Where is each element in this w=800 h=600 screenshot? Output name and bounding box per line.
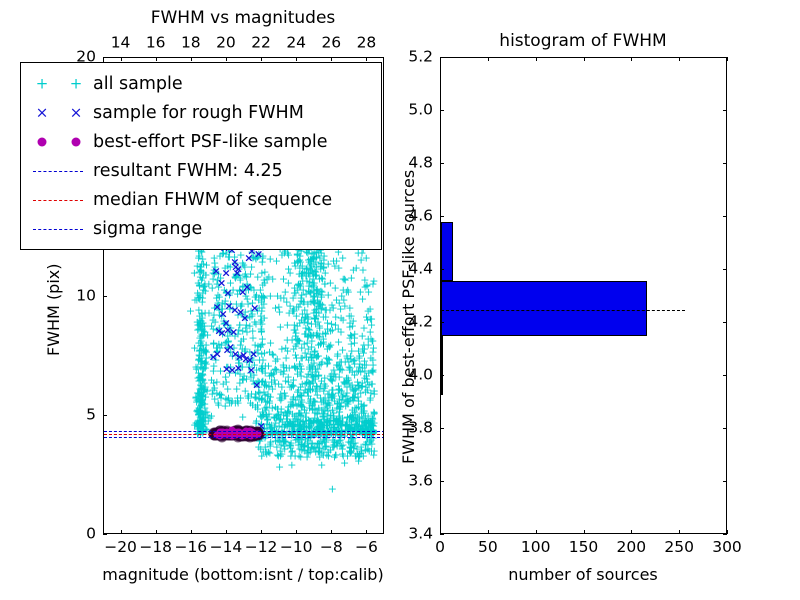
scatter-point-all: + (347, 446, 356, 457)
scatter-point-all: + (236, 250, 245, 261)
scatter-point-all: + (293, 416, 302, 427)
scatter-point-all: + (353, 392, 362, 403)
scatter-point-all: + (197, 259, 206, 270)
scatter-point-all: + (341, 420, 350, 431)
cross-marker-icon: × (36, 105, 49, 120)
scatter-point-all: + (358, 415, 367, 426)
scatter-point-all: + (324, 259, 333, 270)
scatter-point-all: + (305, 384, 314, 395)
scatter-point-all: + (195, 280, 204, 291)
scatter-point-all: + (351, 409, 360, 420)
scatter-point-all: + (329, 442, 338, 453)
scatter-point-all: + (258, 376, 267, 387)
scatter-point-all: + (350, 333, 359, 344)
scatter-point-all: + (260, 266, 269, 277)
scatter-point-all: + (326, 326, 335, 337)
scatter-point-all: + (324, 340, 333, 351)
scatter-point-all: + (233, 398, 242, 409)
scatter-point-all: + (296, 419, 305, 430)
scatter-point-all: + (238, 343, 247, 354)
scatter-point-all: + (350, 438, 359, 449)
histogram-ytick (440, 428, 444, 429)
scatter-top-xticklabel: 14 (111, 36, 131, 52)
scatter-point-all: + (299, 387, 308, 398)
scatter-point-all: + (199, 412, 208, 423)
scatter-point-all: + (311, 442, 320, 453)
scatter-point-all: + (294, 451, 303, 462)
scatter-point-all: + (295, 416, 304, 427)
scatter-point-all: + (286, 401, 295, 412)
scatter-point-all: + (211, 267, 220, 278)
scatter-point-rough: × (230, 304, 239, 315)
scatter-point-all: + (308, 443, 317, 454)
scatter-point-all: + (307, 319, 316, 330)
scatter-point-all: + (334, 360, 343, 371)
scatter-point-all: + (241, 306, 250, 317)
scatter-point-all: + (310, 291, 319, 302)
scatter-point-all: + (355, 415, 364, 426)
scatter-point-all: + (304, 268, 313, 279)
scatter-point-all: + (193, 415, 202, 426)
scatter-point-all: + (306, 385, 315, 396)
scatter-point-all: + (326, 371, 335, 382)
scatter-point-all: + (362, 280, 371, 291)
scatter-point-all: + (196, 380, 205, 391)
scatter-point-all: + (310, 403, 319, 414)
scatter-point-all: + (290, 287, 299, 298)
scatter-point-all: + (285, 417, 294, 428)
scatter-point-all: + (296, 408, 305, 419)
scatter-point-all: + (290, 325, 299, 336)
scatter-point-all: + (274, 301, 283, 312)
legend-item-label: median FHWM of sequence (93, 190, 332, 210)
scatter-point-all: + (295, 437, 304, 448)
scatter-point-all: + (210, 257, 219, 268)
scatter-point-all: + (312, 382, 321, 393)
scatter-point-all: + (249, 376, 258, 387)
scatter-point-all: + (369, 406, 378, 417)
scatter-point-all: + (196, 412, 205, 423)
scatter-point-all: + (316, 339, 325, 350)
scatter-point-all: + (197, 358, 206, 369)
scatter-point-all: + (196, 338, 205, 349)
scatter-point-all: + (354, 379, 363, 390)
scatter-point-all: + (336, 418, 345, 429)
scatter-point-all: + (198, 369, 207, 380)
scatter-point-all: + (363, 443, 372, 454)
scatter-point-all: + (347, 331, 356, 342)
scatter-point-all: + (325, 420, 334, 431)
scatter-point-all: + (195, 409, 204, 420)
scatter-point-all: + (293, 414, 302, 425)
scatter-point-all: + (200, 358, 209, 369)
scatter-point-all: + (311, 257, 320, 268)
scatter-point-all: + (289, 415, 298, 426)
scatter-point-all: + (201, 411, 210, 422)
scatter-point-all: + (335, 393, 344, 404)
scatter-point-all: + (266, 290, 275, 301)
scatter-point-psf-halo (222, 426, 233, 437)
scatter-point-all: + (327, 385, 336, 396)
scatter-point-all: + (306, 258, 315, 269)
scatter-point-all: + (295, 419, 304, 430)
scatter-point-all: + (247, 388, 256, 399)
scatter-point-all: + (209, 324, 218, 335)
scatter-point-all: + (368, 279, 377, 290)
scatter-point-all: + (356, 442, 365, 453)
scatter-point-all: + (237, 335, 246, 346)
scatter-point-all: + (365, 436, 374, 447)
scatter-point-all: + (340, 301, 349, 312)
scatter-point-all: + (359, 412, 368, 423)
scatter-point-all: + (335, 441, 344, 452)
scatter-point-all: + (328, 388, 337, 399)
scatter-point-all: + (296, 382, 305, 393)
scatter-point-all: + (212, 347, 221, 358)
scatter-point-all: + (256, 434, 265, 445)
histogram-yticklabel: 4.0 (408, 367, 433, 383)
scatter-point-all: + (355, 448, 364, 459)
scatter-point-all: + (337, 398, 346, 409)
scatter-point-rough: × (224, 301, 233, 312)
scatter-point-all: + (288, 445, 297, 456)
scatter-point-all: + (238, 282, 247, 293)
scatter-point-all: + (338, 440, 347, 451)
scatter-point-all: + (290, 426, 299, 437)
scatter-point-all: + (291, 363, 300, 374)
scatter-point-all: + (360, 399, 369, 410)
scatter-point-all: + (294, 407, 303, 418)
scatter-point-all: + (311, 408, 320, 419)
scatter-point-all: + (318, 422, 327, 433)
scatter-point-all: + (313, 409, 322, 420)
scatter-point-all: + (252, 364, 261, 375)
histogram-bar[interactable] (441, 336, 443, 394)
scatter-point-all: + (320, 404, 329, 415)
scatter-point-all: + (233, 365, 242, 376)
scatter-point-all: + (277, 249, 286, 260)
scatter-point-all: + (288, 293, 297, 304)
scatter-point-rough: × (223, 287, 232, 298)
scatter-point-all: + (197, 416, 206, 427)
scatter-point-all: + (338, 416, 347, 427)
scatter-point-all: + (264, 408, 273, 419)
scatter-point-all: + (323, 323, 332, 334)
scatter-point-all: + (239, 259, 248, 270)
scatter-point-all: + (307, 351, 316, 362)
scatter-point-all: + (317, 287, 326, 298)
scatter-point-all: + (347, 339, 356, 350)
scatter-point-all: + (223, 383, 232, 394)
scatter-point-all: + (211, 355, 220, 366)
scatter-point-all: + (203, 386, 212, 397)
scatter-point-all: + (309, 416, 318, 427)
scatter-point-all: + (308, 405, 317, 416)
scatter-point-all: + (311, 385, 320, 396)
scatter-point-all: + (369, 343, 378, 354)
scatter-point-all: + (222, 286, 231, 297)
scatter-point-all: + (315, 323, 324, 334)
scatter-point-all: + (303, 445, 312, 456)
scatter-point-all: + (334, 387, 343, 398)
scatter-point-all: + (310, 278, 319, 289)
scatter-point-all: + (295, 281, 304, 292)
scatter-point-all: + (316, 416, 325, 427)
scatter-point-all: + (212, 325, 221, 336)
scatter-point-all: + (277, 439, 286, 450)
scatter-point-all: + (231, 272, 240, 283)
scatter-point-all: + (342, 375, 351, 386)
scatter-point-all: + (288, 399, 297, 410)
scatter-point-all: + (349, 356, 358, 367)
scatter-point-all: + (306, 348, 315, 359)
scatter-point-all: + (257, 319, 266, 330)
scatter-point-all: + (296, 400, 305, 411)
histogram-ytick (440, 163, 444, 164)
scatter-point-all: + (323, 417, 332, 428)
histogram-top-xtick (584, 57, 585, 61)
scatter-point-all: + (194, 389, 203, 400)
scatter-point-all: + (276, 413, 285, 424)
scatter-point-all: + (347, 433, 356, 444)
scatter-point-all: + (310, 312, 319, 323)
scatter-point-all: + (297, 270, 306, 281)
scatter-point-all: + (313, 316, 322, 327)
scatter-point-all: + (192, 294, 201, 305)
scatter-point-all: + (326, 412, 335, 423)
scatter-point-all: + (296, 257, 305, 268)
scatter-point-all: + (332, 294, 341, 305)
scatter-point-all: + (193, 316, 202, 327)
scatter-point-rough: × (228, 365, 237, 376)
scatter-point-all: + (339, 284, 348, 295)
scatter-point-all: + (338, 412, 347, 423)
histogram-bar[interactable] (441, 222, 453, 280)
scatter-point-all: + (328, 484, 337, 495)
legend-item[interactable]: best-effort PSF-like sample (29, 127, 373, 156)
scatter-point-all: + (304, 269, 313, 280)
scatter-point-all: + (276, 322, 285, 333)
scatter-point-all: + (247, 261, 256, 272)
scatter-point-all: + (294, 384, 303, 395)
scatter-point-all: + (280, 419, 289, 430)
scatter-point-all: + (223, 343, 232, 354)
legend[interactable]: ++all sample××sample for rough FWHMbest-… (20, 62, 382, 250)
scatter-point-all: + (242, 327, 251, 338)
scatter-point-all: + (329, 408, 338, 419)
scatter-point-all: + (196, 400, 205, 411)
scatter-point-psf-halo (236, 426, 247, 437)
scatter-point-all: + (219, 379, 228, 390)
legend-item[interactable]: sigma range (29, 214, 373, 243)
scatter-point-all: + (359, 401, 368, 412)
scatter-point-all: + (289, 304, 298, 315)
scatter-point-all: + (335, 412, 344, 423)
scatter-point-all: + (312, 285, 321, 296)
scatter-point-all: + (213, 298, 222, 309)
scatter-point-all: + (307, 438, 316, 449)
scatter-point-all: + (201, 418, 210, 429)
scatter-point-all: + (354, 413, 363, 424)
scatter-point-all: + (317, 416, 326, 427)
scatter-point-all: + (250, 348, 259, 359)
histogram-yticklabel: 3.8 (408, 420, 433, 436)
scatter-point-all: + (196, 423, 205, 434)
scatter-point-all: + (358, 363, 367, 374)
scatter-point-all: + (307, 369, 316, 380)
scatter-point-all: + (370, 417, 379, 428)
scatter-point-all: + (309, 372, 318, 383)
scatter-point-all: + (333, 417, 342, 428)
histogram-ytick (440, 375, 444, 376)
scatter-point-all: + (210, 252, 219, 263)
scatter-point-all: + (359, 426, 368, 437)
scatter-point-all: + (215, 323, 224, 334)
scatter-point-all: + (361, 444, 370, 455)
scatter-point-all: + (253, 400, 262, 411)
scatter-point-all: + (359, 408, 368, 419)
scatter-point-all: + (359, 450, 368, 461)
scatter-point-all: + (273, 450, 282, 461)
scatter-point-all: + (287, 381, 296, 392)
scatter-point-all: + (248, 400, 257, 411)
scatter-point-all: + (343, 398, 352, 409)
scatter-point-all: + (351, 415, 360, 426)
legend-item[interactable]: resultant FWHM: 4.25 (29, 156, 373, 185)
scatter-point-all: + (307, 255, 316, 266)
scatter-point-all: + (303, 317, 312, 328)
scatter-point-all: + (366, 353, 375, 364)
scatter-point-all: + (369, 275, 378, 286)
scatter-point-all: + (266, 337, 275, 348)
dashed-line-icon (33, 200, 83, 201)
scatter-point-all: + (214, 339, 223, 350)
scatter-point-all: + (367, 446, 376, 457)
scatter-point-all: + (367, 379, 376, 390)
scatter-point-all: + (346, 422, 355, 433)
scatter-point-all: + (198, 296, 207, 307)
scatter-point-all: + (310, 265, 319, 276)
scatter-point-all: + (354, 451, 363, 462)
legend-handle (29, 132, 93, 152)
histogram-axes[interactable] (440, 57, 727, 534)
scatter-point-all: + (197, 345, 206, 356)
scatter-point-all: + (307, 282, 316, 293)
legend-item[interactable]: ++all sample (29, 69, 373, 98)
histogram-bar[interactable] (441, 281, 647, 337)
scatter-point-all: + (272, 413, 281, 424)
scatter-point-all: + (297, 395, 306, 406)
scatter-point-all: + (266, 368, 275, 379)
histogram-right-ytick (723, 375, 727, 376)
scatter-point-all: + (298, 379, 307, 390)
scatter-point-all: + (317, 438, 326, 449)
scatter-point-all: + (264, 390, 273, 401)
scatter-point-all: + (295, 268, 304, 279)
scatter-point-all: + (370, 408, 379, 419)
scatter-top-xtick (296, 57, 297, 61)
scatter-point-all: + (311, 397, 320, 408)
scatter-point-rough: × (231, 261, 240, 272)
scatter-point-all: + (215, 300, 224, 311)
scatter-point-all: + (312, 288, 321, 299)
scatter-point-all: + (214, 305, 223, 316)
scatter-point-all: + (354, 456, 363, 467)
scatter-point-all: + (224, 342, 233, 353)
scatter-point-all: + (196, 396, 205, 407)
scatter-point-all: + (195, 315, 204, 326)
scatter-point-all: + (321, 436, 330, 447)
scatter-point-all: + (198, 411, 207, 422)
scatter-point-all: + (318, 299, 327, 310)
scatter-point-all: + (256, 443, 265, 454)
scatter-point-all: + (242, 374, 251, 385)
scatter-point-all: + (228, 395, 237, 406)
scatter-point-all: + (347, 380, 356, 391)
scatter-point-all: + (331, 372, 340, 383)
legend-item[interactable]: median FHWM of sequence (29, 185, 373, 214)
scatter-point-all: + (325, 305, 334, 316)
scatter-point-all: + (262, 448, 271, 459)
scatter-point-all: + (225, 327, 234, 338)
scatter-point-all: + (196, 372, 205, 383)
scatter-point-all: + (358, 330, 367, 341)
scatter-point-all: + (286, 450, 295, 461)
scatter-point-rough: × (229, 327, 238, 338)
scatter-point-all: + (297, 397, 306, 408)
scatter-point-all: + (266, 438, 275, 449)
scatter-point-all: + (190, 294, 199, 305)
scatter-point-all: + (329, 410, 338, 421)
legend-item[interactable]: ××sample for rough FWHM (29, 98, 373, 127)
scatter-point-all: + (305, 362, 314, 373)
scatter-point-all: + (314, 339, 323, 350)
scatter-point-all: + (304, 441, 313, 452)
scatter-point-all: + (309, 378, 318, 389)
scatter-point-all: + (314, 308, 323, 319)
scatter-point-all: + (302, 263, 311, 274)
scatter-point-all: + (196, 407, 205, 418)
histogram-right-ytick (723, 322, 727, 323)
scatter-point-all: + (303, 387, 312, 398)
scatter-point-all: + (344, 396, 353, 407)
scatter-point-all: + (197, 309, 206, 320)
legend-handle (29, 161, 93, 181)
scatter-point-all: + (364, 334, 373, 345)
scatter-point-all: + (299, 440, 308, 451)
scatter-point-all: + (334, 336, 343, 347)
scatter-point-all: + (309, 418, 318, 429)
scatter-point-all: + (291, 261, 300, 272)
scatter-point-all: + (335, 406, 344, 417)
scatter-point-all: + (340, 378, 349, 389)
scatter-point-all: + (308, 277, 317, 288)
scatter-point-all: + (253, 347, 262, 358)
scatter-point-all: + (308, 363, 317, 374)
scatter-point-all: + (260, 277, 269, 288)
scatter-point-all: + (289, 400, 298, 411)
scatter-point-all: + (213, 345, 222, 356)
scatter-point-all: + (331, 416, 340, 427)
scatter-point-all: + (300, 419, 309, 430)
scatter-point-all: + (202, 353, 211, 364)
scatter-point-all: + (346, 447, 355, 458)
scatter-point-all: + (316, 290, 325, 301)
histogram-yticklabel: 3.4 (408, 526, 433, 542)
scatter-xtick (331, 530, 332, 534)
dashed-line-icon (33, 171, 83, 172)
scatter-point-all: + (193, 261, 202, 272)
